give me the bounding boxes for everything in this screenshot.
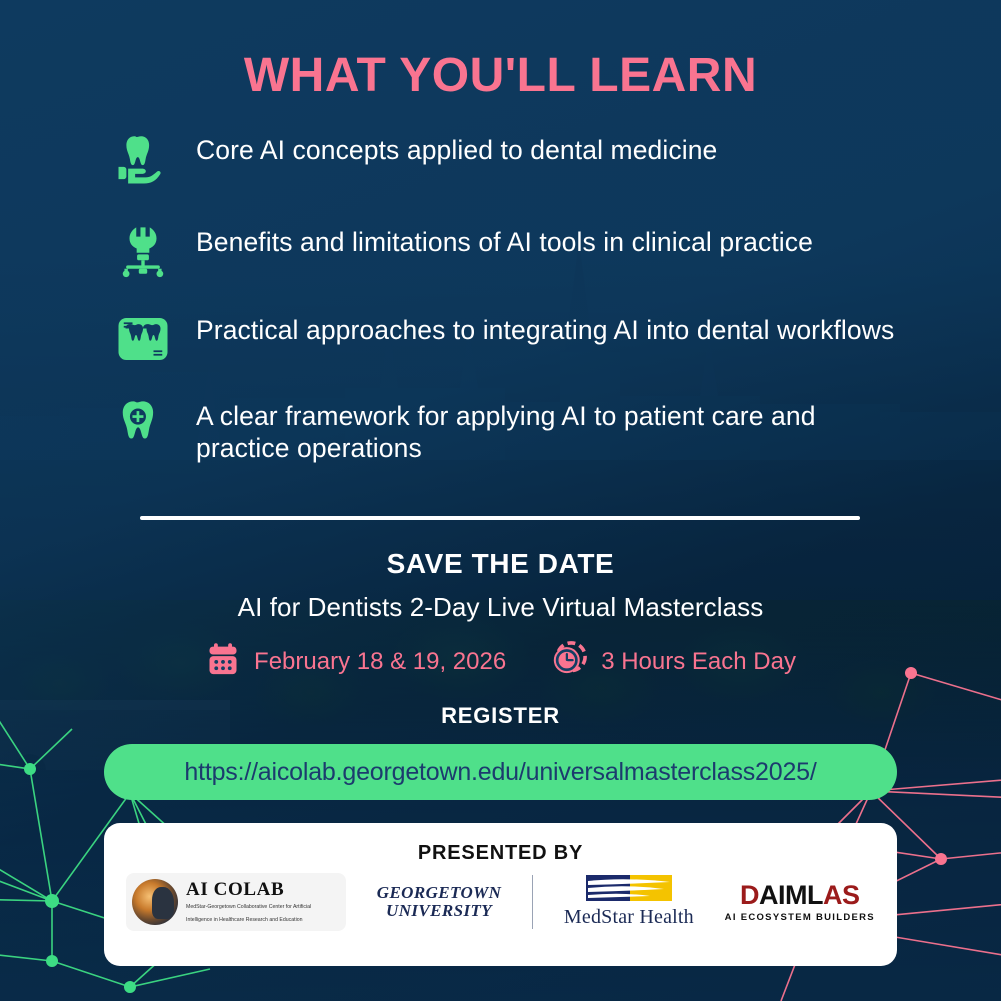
list-item-label: Core AI concepts applied to dental medic… [196, 128, 717, 166]
daimlas-part1: D [740, 880, 759, 910]
presented-by-label: PRESENTED BY [104, 823, 897, 865]
ai-brain-head-icon [132, 879, 178, 925]
logo-daimlas: DAIMLAS AI ECOSYSTEM BUILDERS [725, 882, 875, 923]
clock-icon [550, 640, 588, 683]
list-item: A clear framework for applying AI to pat… [112, 394, 911, 465]
dental-xray-icon [112, 308, 174, 370]
learn-list: Core AI concepts applied to dental medic… [112, 128, 911, 493]
daimlas-part3: AS [823, 880, 860, 910]
tooth-in-hand-icon [112, 128, 174, 190]
list-item-label: A clear framework for applying AI to pat… [196, 394, 911, 465]
calendar-icon [205, 641, 241, 682]
wrench-network-icon [112, 220, 174, 282]
ai-colab-name: AI COLAB [186, 880, 336, 899]
logo-row: AI COLAB MedStar-Georgetown Collaborativ… [104, 865, 897, 931]
event-subtitle: AI for Dentists 2-Day Live Virtual Maste… [0, 592, 1001, 623]
event-meta-row: February 18 & 19, 2026 3 Hours Each Day [0, 640, 1001, 683]
list-item-label: Practical approaches to integrating AI i… [196, 308, 894, 346]
list-item: Practical approaches to integrating AI i… [112, 308, 911, 370]
daimlas-part2: AIML [759, 880, 823, 910]
tooth-plus-icon [112, 394, 174, 456]
list-item: Benefits and limitations of AI tools in … [112, 220, 911, 282]
daimlas-tagline: AI ECOSYSTEM BUILDERS [725, 912, 875, 923]
logo-medstar-health: MedStar Health [564, 875, 694, 929]
save-the-date-heading: SAVE THE DATE [0, 548, 1001, 580]
event-duration: 3 Hours Each Day [550, 640, 796, 683]
list-item: Core AI concepts applied to dental medic… [112, 128, 911, 190]
registration-url-button[interactable]: https://aicolab.georgetown.edu/universal… [104, 744, 897, 800]
event-date: February 18 & 19, 2026 [205, 641, 506, 682]
page-title: WHAT YOU'LL LEARN [0, 48, 1001, 103]
logo-ai-colab: AI COLAB MedStar-Georgetown Collaborativ… [126, 873, 346, 931]
section-divider [140, 516, 860, 520]
medstar-mark-icon [586, 875, 672, 901]
logo-georgetown-university: GEORGETOWN UNIVERSITY [377, 884, 502, 920]
event-date-label: February 18 & 19, 2026 [254, 648, 506, 676]
logo-divider [532, 875, 533, 929]
georgetown-line2: UNIVERSITY [377, 902, 502, 920]
presented-by-card: PRESENTED BY AI COLAB MedStar-Georgetown… [104, 823, 897, 966]
register-label: REGISTER [0, 703, 1001, 729]
medstar-name: MedStar Health [564, 906, 694, 929]
georgetown-line1: GEORGETOWN [377, 884, 502, 902]
list-item-label: Benefits and limitations of AI tools in … [196, 220, 813, 258]
registration-url-text: https://aicolab.georgetown.edu/universal… [184, 758, 816, 787]
ai-colab-tagline-line2: Intelligence in Healthcare Research and … [186, 916, 336, 924]
event-duration-label: 3 Hours Each Day [601, 648, 796, 676]
poster-canvas: WHAT YOU'LL LEARN Core AI concepts appli… [0, 0, 1001, 1001]
ai-colab-tagline-line1: MedStar-Georgetown Collaborative Center … [186, 903, 336, 911]
